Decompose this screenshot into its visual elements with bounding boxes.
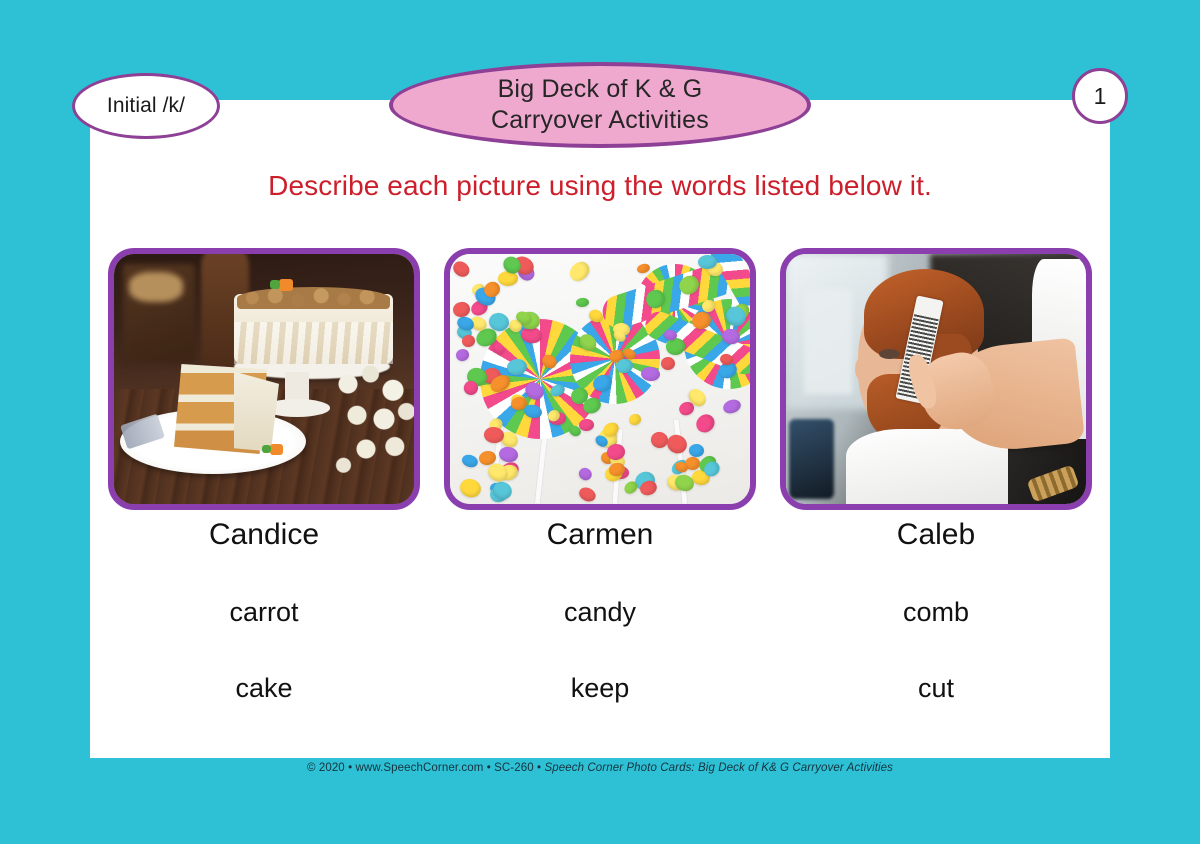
photo-carrot-cake	[114, 254, 414, 504]
photo-frame-carmen	[444, 248, 756, 510]
footer: © 2020 • www.SpeechCorner.com • SC-260 •…	[0, 762, 1200, 774]
word-name: Candice	[108, 518, 420, 552]
candy-bean	[461, 334, 476, 348]
cake-slice-side	[234, 369, 279, 452]
hanging-towel	[804, 289, 852, 394]
candy-bean	[450, 259, 472, 280]
background-grinder-top	[129, 272, 183, 302]
candy-bean	[628, 412, 643, 426]
candy-bean	[721, 397, 742, 415]
candy-carrot-top	[279, 279, 293, 291]
walnut-topping	[237, 287, 390, 310]
barber-bracelet	[1027, 464, 1080, 502]
candy-bean	[688, 444, 704, 458]
client-eye	[879, 349, 900, 359]
word-item: comb	[780, 597, 1092, 628]
photo-frame-caleb	[780, 248, 1092, 510]
word-name: Carmen	[444, 518, 756, 552]
word-column-caleb: Caleb comb cut	[780, 518, 1092, 704]
candy-bean	[665, 337, 686, 355]
word-item: candy	[444, 597, 756, 628]
initial-sound-badge: Initial /k/	[72, 73, 220, 139]
page-number-badge: 1	[1072, 68, 1128, 124]
title-line-2: Carryover Activities	[491, 105, 709, 136]
photo-haircut	[786, 254, 1086, 504]
candy-bean	[460, 453, 479, 469]
candy-bean	[458, 476, 483, 500]
photo-frame-candice	[108, 248, 420, 510]
footer-title: Speech Corner Photo Cards: Big Deck of K…	[544, 762, 893, 774]
candy-carrot-plate	[270, 444, 283, 455]
word-item: cake	[108, 673, 420, 704]
photo-row	[108, 248, 1092, 510]
candy-bean	[579, 419, 594, 432]
candy-bean	[483, 426, 504, 444]
candy-bean	[452, 301, 471, 319]
candy-bean	[660, 357, 675, 371]
word-item: keep	[444, 673, 756, 704]
worksheet-page: Initial /k/ Big Deck of K & G Carryover …	[0, 0, 1200, 844]
candy-bean	[664, 432, 690, 457]
page-number-value: 1	[1094, 83, 1107, 110]
candy-bean	[577, 485, 598, 504]
word-name: Caleb	[780, 518, 1092, 552]
candy-bean	[576, 466, 593, 483]
footer-copyright: © 2020 • www.SpeechCorner.com • SC-260 •	[307, 762, 545, 774]
barber-appliance	[789, 419, 834, 499]
word-item: carrot	[108, 597, 420, 628]
word-columns: Candice carrot cake Carmen candy keep Ca…	[108, 518, 1092, 704]
white-flowers	[330, 359, 414, 484]
candy-bean	[498, 445, 519, 463]
word-column-carmen: Carmen candy keep	[444, 518, 756, 704]
candy-bean	[454, 347, 470, 362]
initial-sound-label: Initial /k/	[107, 94, 185, 118]
instruction-text: Describe each picture using the words li…	[90, 170, 1110, 202]
candy-bean	[693, 411, 718, 436]
candy-bean	[576, 297, 589, 307]
title-oval: Big Deck of K & G Carryover Activities	[389, 62, 811, 148]
title-line-1: Big Deck of K & G	[498, 74, 703, 105]
candy-bean	[566, 258, 593, 284]
word-column-candice: Candice carrot cake	[108, 518, 420, 704]
photo-candy	[450, 254, 750, 504]
word-item: cut	[780, 673, 1092, 704]
